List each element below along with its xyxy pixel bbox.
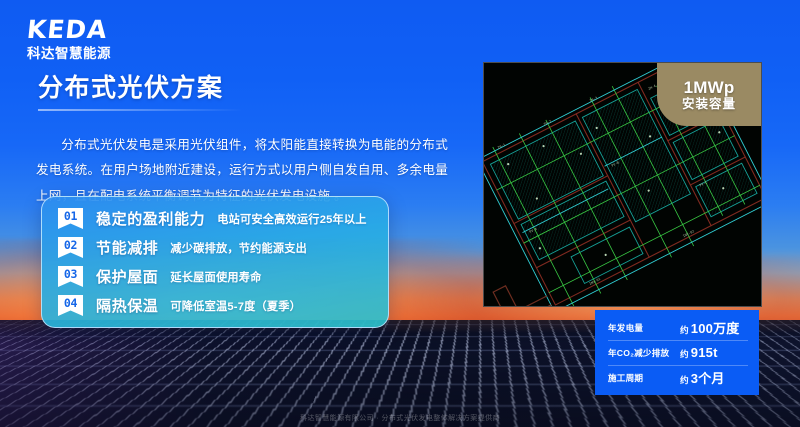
feature-item-02: 02 节能减排 减少碳排放，节约能源支出 — [42, 233, 388, 262]
metric-number: 100万度 — [691, 318, 740, 337]
metric-row-annual-generation: 年发电量 约 100万度 — [595, 315, 759, 340]
feature-number: 03 — [64, 266, 77, 281]
feature-desc: 可降低室温5-7度（夏季） — [170, 298, 301, 314]
feature-desc: 延长屋面使用寿命 — [170, 269, 261, 285]
feature-number: 02 — [64, 237, 77, 252]
feature-desc: 减少碳排放，节约能源支出 — [170, 240, 307, 256]
feature-item-04: 04 隔热保温 可降低室温5-7度（夏季） — [42, 291, 388, 320]
cad-site-plan-panel: ZH-1 ZH-2 ZH-3 ZH-4 PV-A PV-B PV-C INV-0… — [483, 62, 762, 307]
slide-root: KEDA 科达智慧能源 分布式光伏方案 分布式光伏发电是采用光伏组件，将太阳能直… — [0, 0, 800, 427]
feature-item-03: 03 保护屋面 延长屋面使用寿命 — [42, 262, 388, 291]
brand-logo-name: 科达智慧能源 — [27, 47, 149, 61]
feature-number-badge-icon: 04 — [58, 295, 83, 316]
metric-number: 3个月 — [691, 368, 725, 387]
page-title: 分布式光伏方案 — [38, 76, 224, 101]
feature-number-badge-icon: 01 — [58, 208, 83, 229]
feature-desc: 电站可安全高效运行25年以上 — [217, 211, 367, 227]
feature-number-badge-icon: 02 — [58, 237, 83, 258]
metric-approx-prefix: 约 — [680, 374, 689, 386]
metric-label: 年CO₂减少排放 — [608, 347, 680, 359]
metric-label: 年发电量 — [608, 322, 680, 334]
metric-label: 施工周期 — [608, 372, 680, 384]
metric-row-construction-period: 施工周期 约 3个月 — [595, 365, 759, 390]
feature-number-badge-icon: 03 — [58, 266, 83, 287]
footer-note: 科达智慧能源有限公司 · 分布式光伏发电整体解决方案提供商 — [0, 413, 800, 423]
metric-number: 915t — [691, 345, 718, 360]
capacity-value: 1MWp — [684, 79, 735, 96]
metric-value: 约 915t — [680, 345, 718, 360]
feature-title: 稳定的盈利能力 — [96, 208, 205, 229]
metric-approx-prefix: 约 — [680, 324, 689, 336]
metric-value: 约 100万度 — [680, 318, 740, 337]
feature-title: 保护屋面 — [96, 266, 158, 287]
capacity-label: 安装容量 — [682, 98, 736, 111]
metric-row-co2-reduction: 年CO₂减少排放 约 915t — [595, 340, 759, 365]
feature-list-card: 01 稳定的盈利能力 电站可安全高效运行25年以上 02 节能减排 减少碳排放，… — [41, 196, 389, 328]
feature-number: 04 — [64, 295, 77, 310]
feature-number: 01 — [64, 208, 77, 223]
metric-approx-prefix: 约 — [680, 348, 689, 360]
brand-logo: KEDA 科达智慧能源 — [27, 17, 149, 61]
feature-title: 隔热保温 — [96, 295, 158, 316]
feature-item-01: 01 稳定的盈利能力 电站可安全高效运行25年以上 — [42, 204, 388, 233]
key-metrics-panel: 年发电量 约 100万度 年CO₂减少排放 约 915t 施工周期 约 3个月 — [595, 310, 759, 395]
brand-logo-mark: KEDA — [26, 17, 151, 42]
metric-value: 约 3个月 — [680, 368, 725, 387]
feature-title: 节能减排 — [96, 237, 158, 258]
capacity-badge: 1MWp 安装容量 — [657, 63, 761, 126]
title-underline — [38, 109, 243, 111]
